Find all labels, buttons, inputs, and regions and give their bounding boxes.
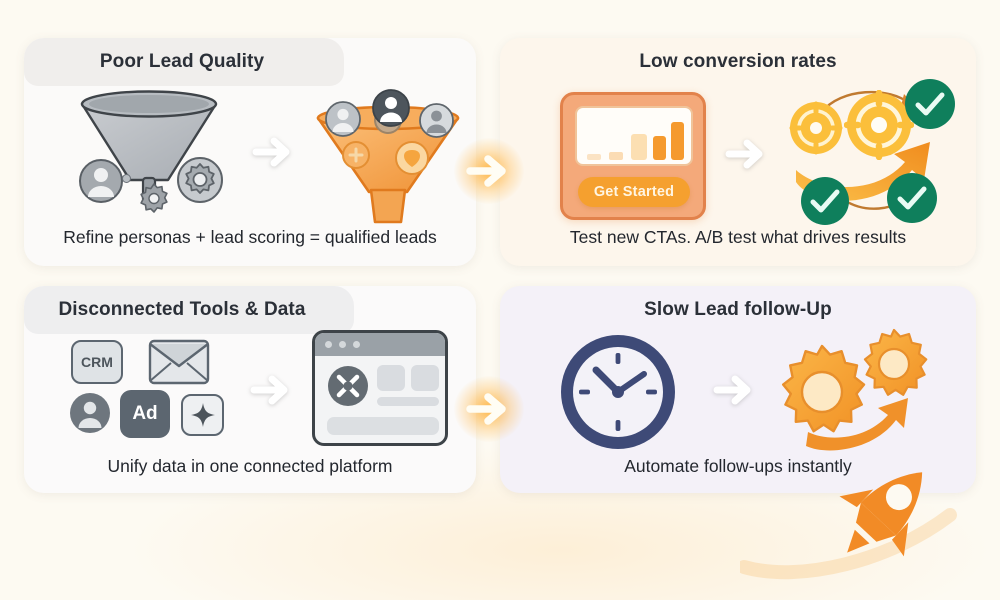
window-tile bbox=[377, 365, 405, 391]
check-circle-icon bbox=[800, 176, 850, 226]
card-chart-area bbox=[575, 106, 693, 166]
panel-title: Slow Lead follow-Up bbox=[500, 299, 976, 321]
unified-platform-window-icon bbox=[312, 330, 448, 446]
cta-button-label: Get Started bbox=[594, 184, 674, 200]
ad-tile-icon: Ad bbox=[120, 390, 170, 438]
hub-node-icon bbox=[327, 365, 369, 407]
glowing-right-arrow-icon bbox=[462, 148, 516, 194]
check-circle-icon bbox=[904, 78, 956, 130]
check-circle-icon bbox=[886, 172, 938, 224]
window-dot bbox=[325, 341, 332, 348]
sparkle-icon bbox=[190, 402, 216, 428]
window-tile bbox=[411, 365, 439, 391]
panel-stage: Get Started bbox=[500, 86, 976, 226]
ad-tile-label: Ad bbox=[132, 403, 157, 425]
person-icon bbox=[78, 158, 124, 204]
cta-button[interactable]: Get Started bbox=[578, 177, 690, 207]
white-right-arrow-icon bbox=[252, 132, 298, 172]
rocket-icon bbox=[826, 452, 946, 570]
person-circle-icon bbox=[69, 392, 111, 434]
person-avatar-icon bbox=[324, 100, 362, 138]
panel-title: Poor Lead Quality bbox=[24, 51, 408, 73]
person-avatar-icon bbox=[418, 102, 455, 139]
panel-stage bbox=[24, 86, 476, 226]
panel-caption: Refine personas + lead scoring = qualifi… bbox=[24, 227, 476, 248]
sparkle-tile-icon bbox=[181, 394, 224, 436]
panel-poor-lead-quality: Poor Lead Quality bbox=[24, 38, 476, 266]
panel-stage bbox=[500, 330, 976, 458]
targets-and-checks-icon bbox=[782, 78, 960, 228]
panel-disconnected-tools-and-data: Disconnected Tools & Data CRM Ad bbox=[24, 286, 476, 493]
window-line bbox=[377, 397, 439, 406]
crm-tile-icon: CRM bbox=[71, 340, 123, 384]
white-right-arrow-icon bbox=[250, 370, 296, 410]
orange-curve-arrow-icon bbox=[804, 398, 924, 456]
gears-automation-icon bbox=[772, 326, 940, 458]
window-dot bbox=[353, 341, 360, 348]
gear-icon bbox=[122, 174, 131, 183]
panel-title: Low conversion rates bbox=[500, 51, 976, 73]
gear-small-icon bbox=[136, 181, 172, 217]
connector-top bbox=[462, 148, 516, 194]
gear-small-icon bbox=[856, 326, 932, 402]
envelope-icon bbox=[148, 338, 210, 386]
panel-title: Disconnected Tools & Data bbox=[24, 299, 408, 321]
glowing-right-arrow-icon bbox=[462, 386, 516, 432]
connector-bottom bbox=[462, 386, 516, 432]
window-titlebar bbox=[315, 333, 445, 356]
panel-low-conversion-rates: Low conversion rates Get Started bbox=[500, 38, 976, 266]
window-dot bbox=[339, 341, 346, 348]
person-avatar-icon bbox=[371, 88, 411, 128]
crm-tile-label: CRM bbox=[81, 354, 113, 370]
landing-page-card-icon: Get Started bbox=[560, 92, 706, 220]
infographic-board: Poor Lead Quality bbox=[24, 38, 976, 493]
clock-icon bbox=[556, 330, 680, 454]
window-line bbox=[327, 417, 439, 435]
panel-caption: Unify data in one connected platform bbox=[24, 456, 476, 477]
white-right-arrow-icon bbox=[725, 134, 771, 174]
panel-stage: CRM Ad bbox=[24, 330, 476, 458]
panel-caption: Test new CTAs. A/B test what drives resu… bbox=[500, 227, 976, 248]
settings-gear-icon bbox=[176, 156, 224, 204]
white-right-arrow-icon bbox=[713, 370, 759, 410]
